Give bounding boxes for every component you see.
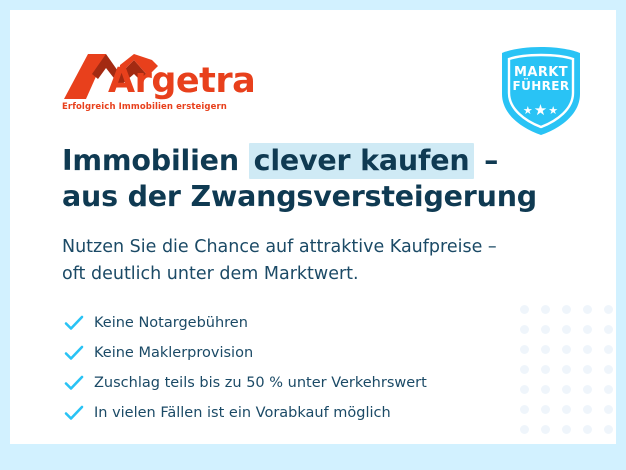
decorative-dot bbox=[562, 345, 571, 354]
decorative-dot bbox=[562, 325, 571, 334]
decorative-dot bbox=[604, 385, 613, 394]
decorative-dot bbox=[562, 425, 571, 434]
decorative-dot bbox=[562, 365, 571, 374]
list-item: Zuschlag teils bis zu 50 % unter Verkehr… bbox=[64, 368, 534, 398]
list-item-label: In vielen Fällen ist ein Vorabkauf mögli… bbox=[94, 405, 391, 421]
badge-line-1: MARKT bbox=[499, 66, 583, 80]
headline-text-before: Immobilien bbox=[62, 144, 249, 177]
decorative-dot bbox=[604, 405, 613, 414]
list-item-label: Zuschlag teils bis zu 50 % unter Verkehr… bbox=[94, 375, 427, 391]
decorative-dot bbox=[562, 305, 571, 314]
headline-line-2: aus der Zwangsversteigerung bbox=[62, 179, 532, 215]
decorative-dot bbox=[541, 425, 550, 434]
decorative-dot bbox=[583, 405, 592, 414]
decorative-dot bbox=[583, 345, 592, 354]
page-subtitle: Nutzen Sie die Chance auf attraktive Kau… bbox=[62, 234, 532, 288]
decorative-dot bbox=[583, 425, 592, 434]
badge-line-2: FÜHRER bbox=[499, 80, 583, 93]
list-item-label: Keine Maklerprovision bbox=[94, 345, 253, 361]
market-leader-badge: MARKT FÜHRER ★★★ bbox=[499, 46, 583, 136]
decorative-dot bbox=[604, 325, 613, 334]
decorative-dot bbox=[604, 345, 613, 354]
check-icon bbox=[64, 405, 94, 421]
decorative-dot-grid bbox=[520, 305, 616, 444]
star-icon-right: ★ bbox=[548, 105, 559, 117]
check-icon bbox=[64, 345, 94, 361]
decorative-dot bbox=[583, 325, 592, 334]
list-item: Keine Maklerprovision bbox=[64, 338, 534, 368]
list-item: Keine Notargebühren bbox=[64, 308, 534, 338]
decorative-dot bbox=[562, 385, 571, 394]
decorative-dot bbox=[583, 365, 592, 374]
badge-stars: ★★★ bbox=[499, 101, 583, 119]
headline-line-1: Immobilien clever kaufen – bbox=[62, 143, 532, 179]
subheadline-line-2: oft deutlich unter dem Marktwert. bbox=[62, 261, 532, 288]
headline-highlight: clever kaufen bbox=[249, 143, 475, 179]
list-item-label: Keine Notargebühren bbox=[94, 315, 248, 331]
decorative-dot bbox=[583, 385, 592, 394]
decorative-dot bbox=[541, 325, 550, 334]
decorative-dot bbox=[541, 385, 550, 394]
subheadline-line-1: Nutzen Sie die Chance auf attraktive Kau… bbox=[62, 234, 532, 261]
decorative-dot bbox=[541, 405, 550, 414]
check-icon bbox=[64, 375, 94, 391]
star-icon-left: ★ bbox=[523, 105, 534, 117]
decorative-dot bbox=[583, 305, 592, 314]
benefits-list: Keine Notargebühren Keine Maklerprovisio… bbox=[64, 308, 534, 428]
decorative-dot bbox=[541, 365, 550, 374]
page-title: Immobilien clever kaufen – aus der Zwang… bbox=[62, 143, 532, 215]
decorative-dot bbox=[604, 365, 613, 374]
banner-card: Argetra Erfolgreich Immobilien ersteiger… bbox=[10, 10, 616, 444]
headline-text-after: – bbox=[474, 144, 498, 177]
star-icon-center: ★ bbox=[534, 102, 548, 119]
decorative-dot bbox=[604, 425, 613, 434]
check-icon bbox=[64, 315, 94, 331]
promo-banner: Argetra Erfolgreich Immobilien ersteiger… bbox=[0, 0, 626, 470]
decorative-dot bbox=[541, 345, 550, 354]
list-item: In vielen Fällen ist ein Vorabkauf mögli… bbox=[64, 398, 534, 428]
decorative-dot bbox=[541, 305, 550, 314]
argetra-logo[interactable]: Argetra Erfolgreich Immobilien ersteiger… bbox=[62, 52, 222, 114]
badge-text: MARKT FÜHRER bbox=[499, 66, 583, 93]
logo-tagline: Erfolgreich Immobilien ersteigern bbox=[62, 102, 227, 112]
decorative-dot bbox=[604, 305, 613, 314]
decorative-dot bbox=[562, 405, 571, 414]
logo-wordmark: Argetra bbox=[108, 64, 255, 99]
